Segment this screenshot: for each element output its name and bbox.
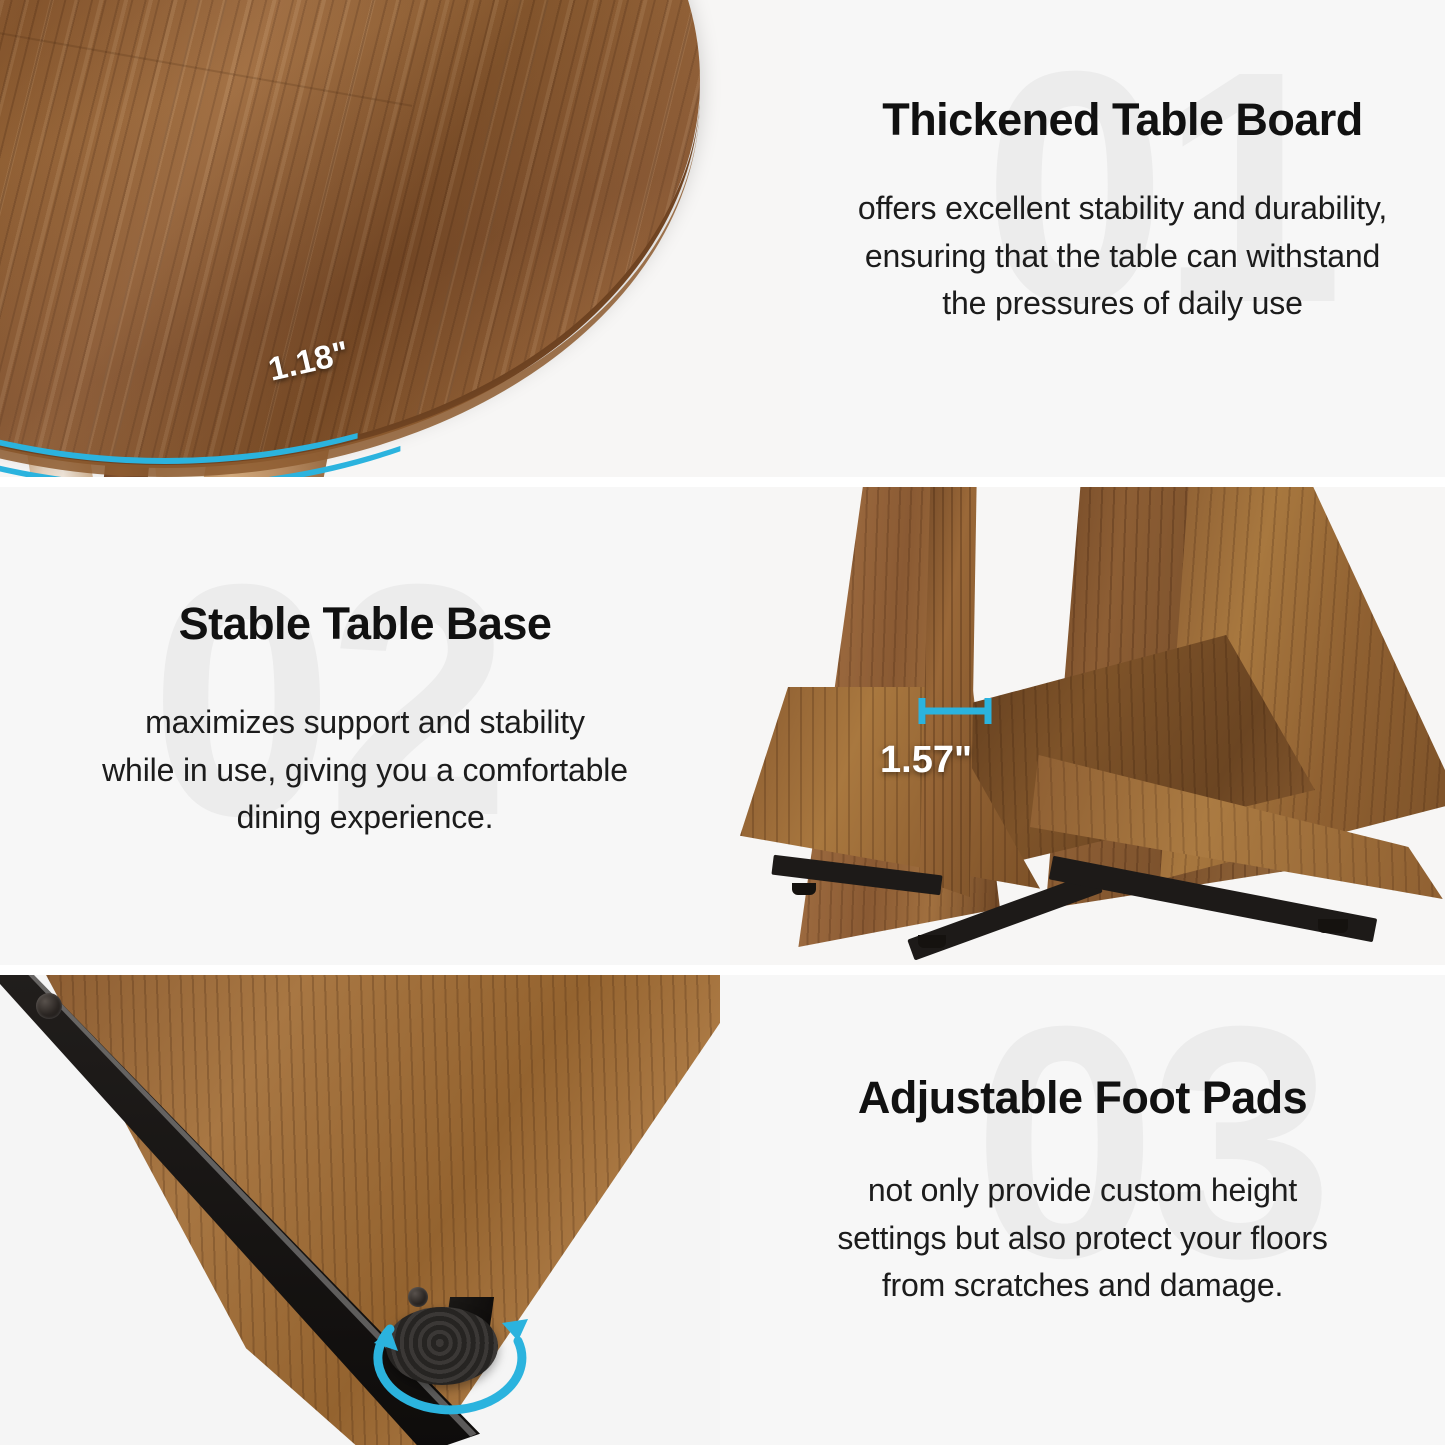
panel-01-description: offers excellent stability and durabilit… (834, 185, 1411, 327)
panel-02-photo: 1.57" (730, 487, 1445, 965)
desc-line: not only provide custom height (868, 1172, 1297, 1208)
panel-03-text: 03 Adjustable Foot Pads not only provide… (720, 975, 1445, 1445)
panel-03-description: not only provide custom height settings … (750, 1167, 1415, 1309)
desc-line: settings but also protect your floors (837, 1220, 1327, 1256)
desc-line: from scratches and damage. (882, 1267, 1283, 1303)
pedestal-base-scene: 1.57" (730, 487, 1445, 965)
panel-02-description: maximizes support and stability while in… (30, 699, 700, 841)
panel-01-photo: 1.18" (0, 0, 800, 477)
foot-pad-right (1318, 919, 1348, 933)
table-top-scene: 1.18" (0, 0, 800, 477)
desc-line: while in use, giving you a comfortable (102, 752, 628, 788)
panel-03-title: Adjustable Foot Pads (750, 1073, 1415, 1123)
panel-02-text: 02 Stable Table Base maximizes support a… (0, 487, 730, 965)
panel-01-title: Thickened Table Board (834, 95, 1411, 145)
feature-panel-03: 03 Adjustable Foot Pads not only provide… (0, 975, 1445, 1445)
desc-line: maximizes support and stability (145, 704, 585, 740)
feature-panel-02: 02 Stable Table Base maximizes support a… (0, 487, 1445, 965)
panel-01-text: 01 Thickened Table Board offers excellen… (800, 0, 1445, 477)
feature-panel-01: 1.18" 01 Thickened Table Board offers ex… (0, 0, 1445, 477)
desc-line: dining experience. (237, 799, 494, 835)
desc-line: offers excellent stability and durabilit… (858, 190, 1387, 226)
adjustable-foot-pad (386, 1297, 504, 1393)
desc-line: the pressures of daily use (942, 285, 1302, 321)
panel-divider (0, 965, 1445, 975)
panel-02-title: Stable Table Base (30, 599, 700, 649)
product-feature-infographic: 1.18" 01 Thickened Table Board offers ex… (0, 0, 1445, 1445)
dimension-h-marker-icon (916, 694, 996, 728)
screw-icon (36, 993, 62, 1019)
foot-pad-front (918, 935, 946, 948)
panel-divider (0, 477, 1445, 487)
desc-line: ensuring that the table can withstand (865, 238, 1380, 274)
rotation-arrows-icon (350, 1277, 560, 1437)
panel-03-photo (0, 975, 720, 1445)
dimension-label-base-thickness: 1.57" (880, 739, 972, 782)
table-board-thickness-edge (0, 0, 700, 477)
foot-pad-scene (0, 975, 720, 1445)
foot-pad-left (792, 883, 816, 895)
